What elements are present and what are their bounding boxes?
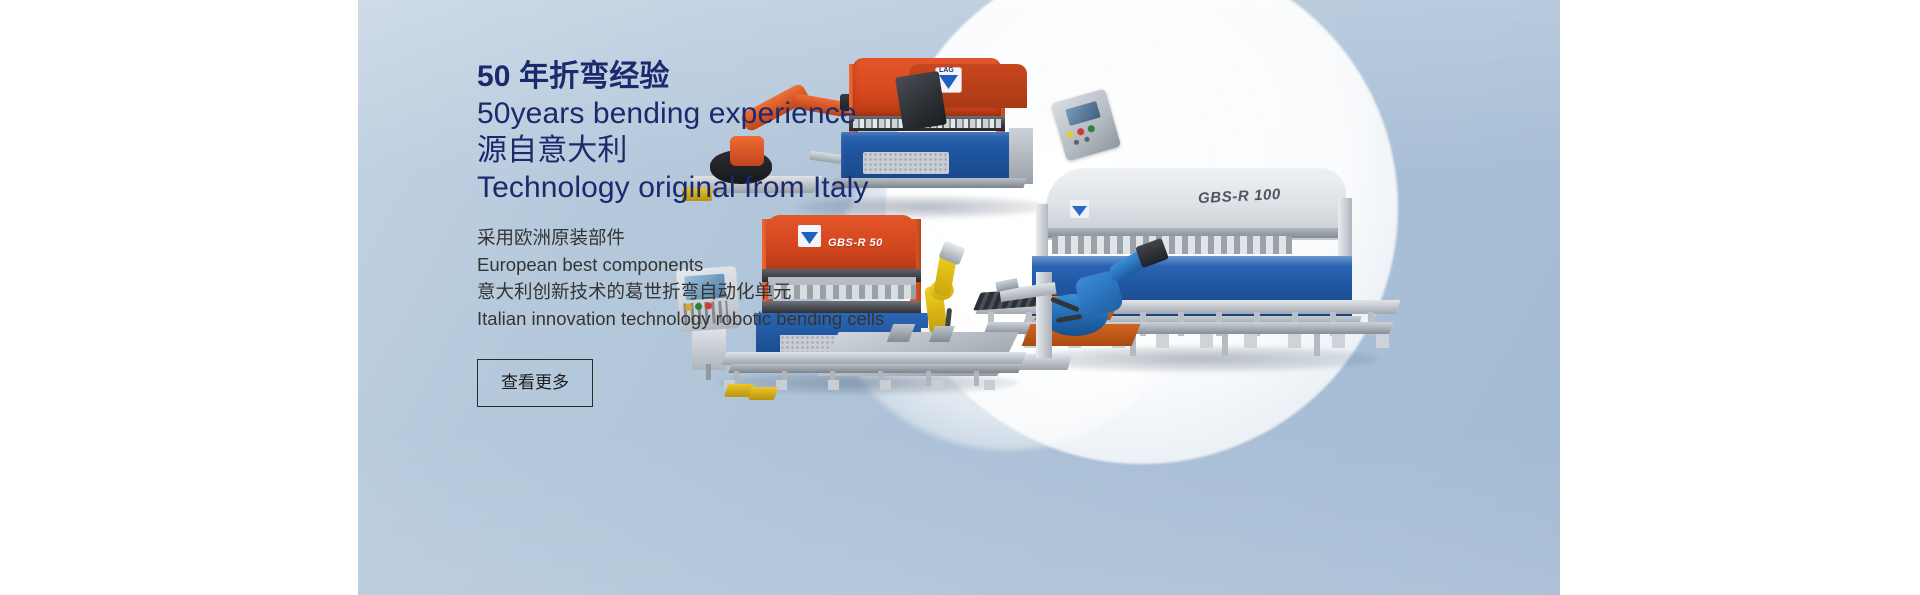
page-root: LAG GBS-R 100 [0,0,1920,595]
subtext-line-2: European best components [477,251,997,278]
headline-line-1: 50 年折弯经验 [477,58,997,95]
subtext-line-3: 意大利创新技术的葛世折弯自动化单元 [477,278,997,305]
headline-line-2: 50years bending experience [477,95,997,132]
hero-banner: LAG GBS-R 100 [358,0,1560,595]
banner-headline: 50 年折弯经验 50years bending experience 源自意大… [477,58,997,206]
banner-subtext: 采用欧洲原装部件 European best components 意大利创新技… [477,224,997,332]
headline-line-3: 源自意大利 [477,132,997,169]
banner-copy-block: 50 年折弯经验 50years bending experience 源自意大… [477,58,997,407]
headline-line-4: Technology original from Italy [477,169,997,206]
subtext-line-1: 采用欧洲原装部件 [477,224,997,251]
subtext-line-4: Italian innovation technology robotic be… [477,305,997,332]
view-more-button[interactable]: 查看更多 [477,359,593,407]
